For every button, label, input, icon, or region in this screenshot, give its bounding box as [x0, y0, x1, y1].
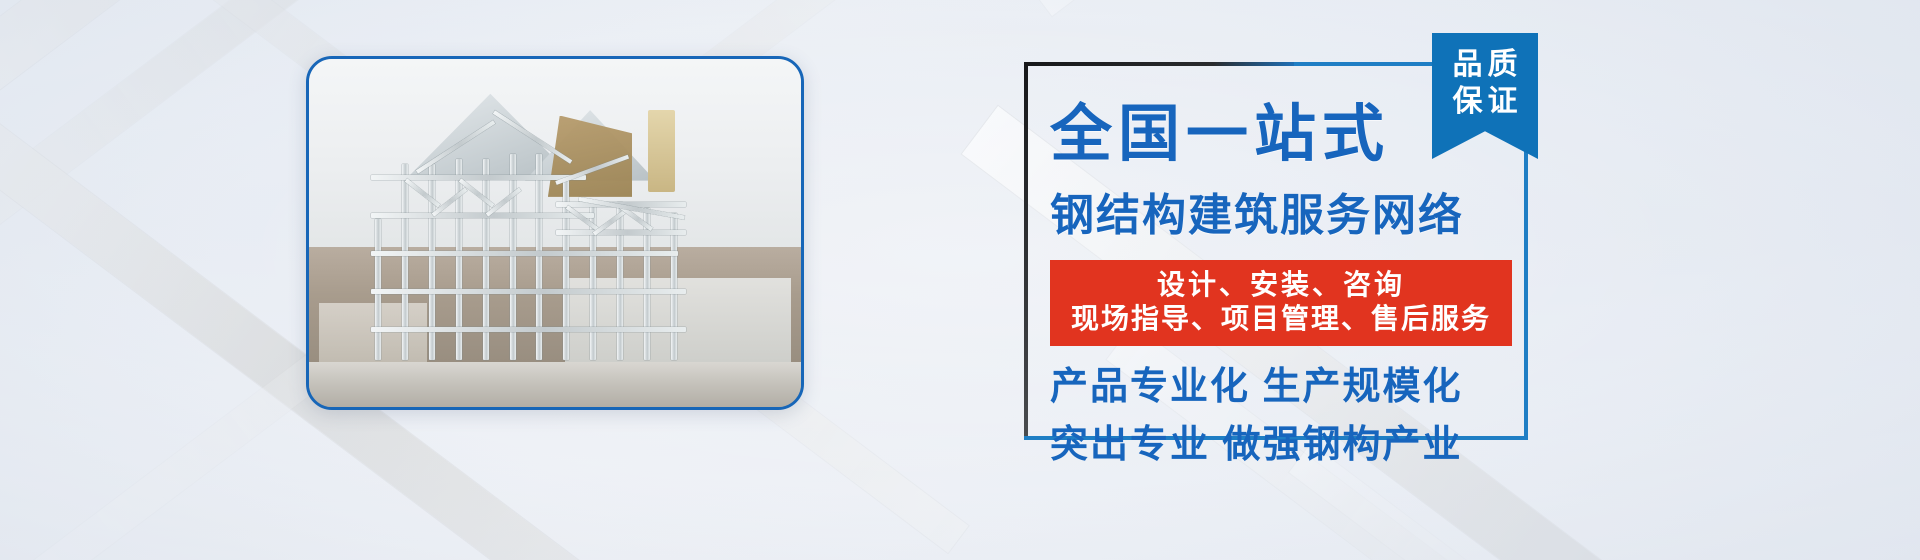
- services-callout-box: 设计、安装、咨询 现场指导、项目管理、售后服务: [1050, 260, 1512, 346]
- steel-frame-house-photo: [306, 56, 804, 410]
- services-line-1: 设计、安装、咨询: [1060, 268, 1502, 302]
- photo-concrete-foundation: [309, 362, 801, 407]
- photo-steel-frame-house: [348, 94, 732, 365]
- badge-line-1: 品质: [1448, 47, 1523, 84]
- services-line-2: 现场指导、项目管理、售后服务: [1060, 302, 1502, 336]
- headline-secondary: 钢结构建筑服务网络: [1050, 194, 1508, 238]
- badge-line-2: 保证: [1448, 84, 1523, 121]
- promo-banner: 全国一站式 钢结构建筑服务网络 设计、安装、咨询 现场指导、项目管理、售后服务 …: [0, 0, 1920, 560]
- background-vignette: [0, 0, 1920, 560]
- slogan-line-1: 产品专业化 生产规模化: [1050, 368, 1508, 406]
- slogan-line-2: 突出专业 做强钢构产业: [1050, 426, 1508, 464]
- photo-content: [309, 59, 801, 407]
